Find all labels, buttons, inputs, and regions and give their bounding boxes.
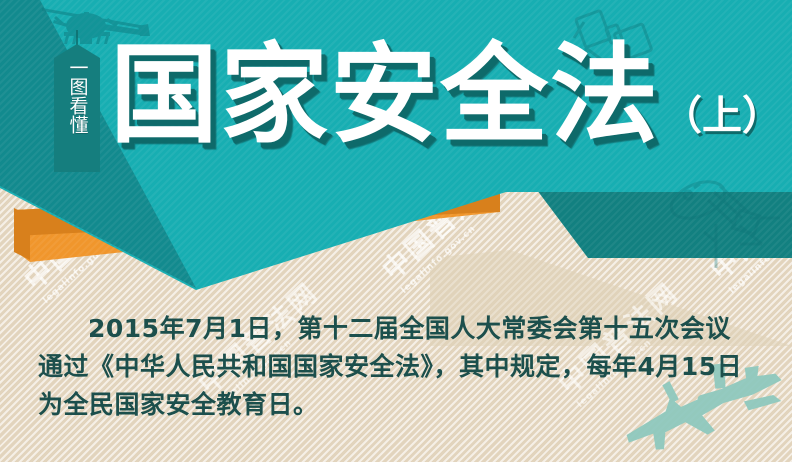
banner-cord <box>76 30 78 46</box>
infographic-poster: 中国普法网 legalinfo.gov.cn 中国普法网 legalinfo.g… <box>0 0 792 462</box>
banner-one-picture-understand: 一图看懂 <box>54 44 100 172</box>
page-title-suffix: （上） <box>662 96 782 136</box>
page-title-main: 国家安全法 <box>110 42 660 150</box>
banner-label: 一图看懂 <box>65 58 90 134</box>
body-paragraph: 2015年7月1日，第十二届全国人大常委会第十五次会议通过《中华人民共和国国家安… <box>38 310 754 424</box>
page-title: 国家安全法 （上） <box>110 42 782 150</box>
